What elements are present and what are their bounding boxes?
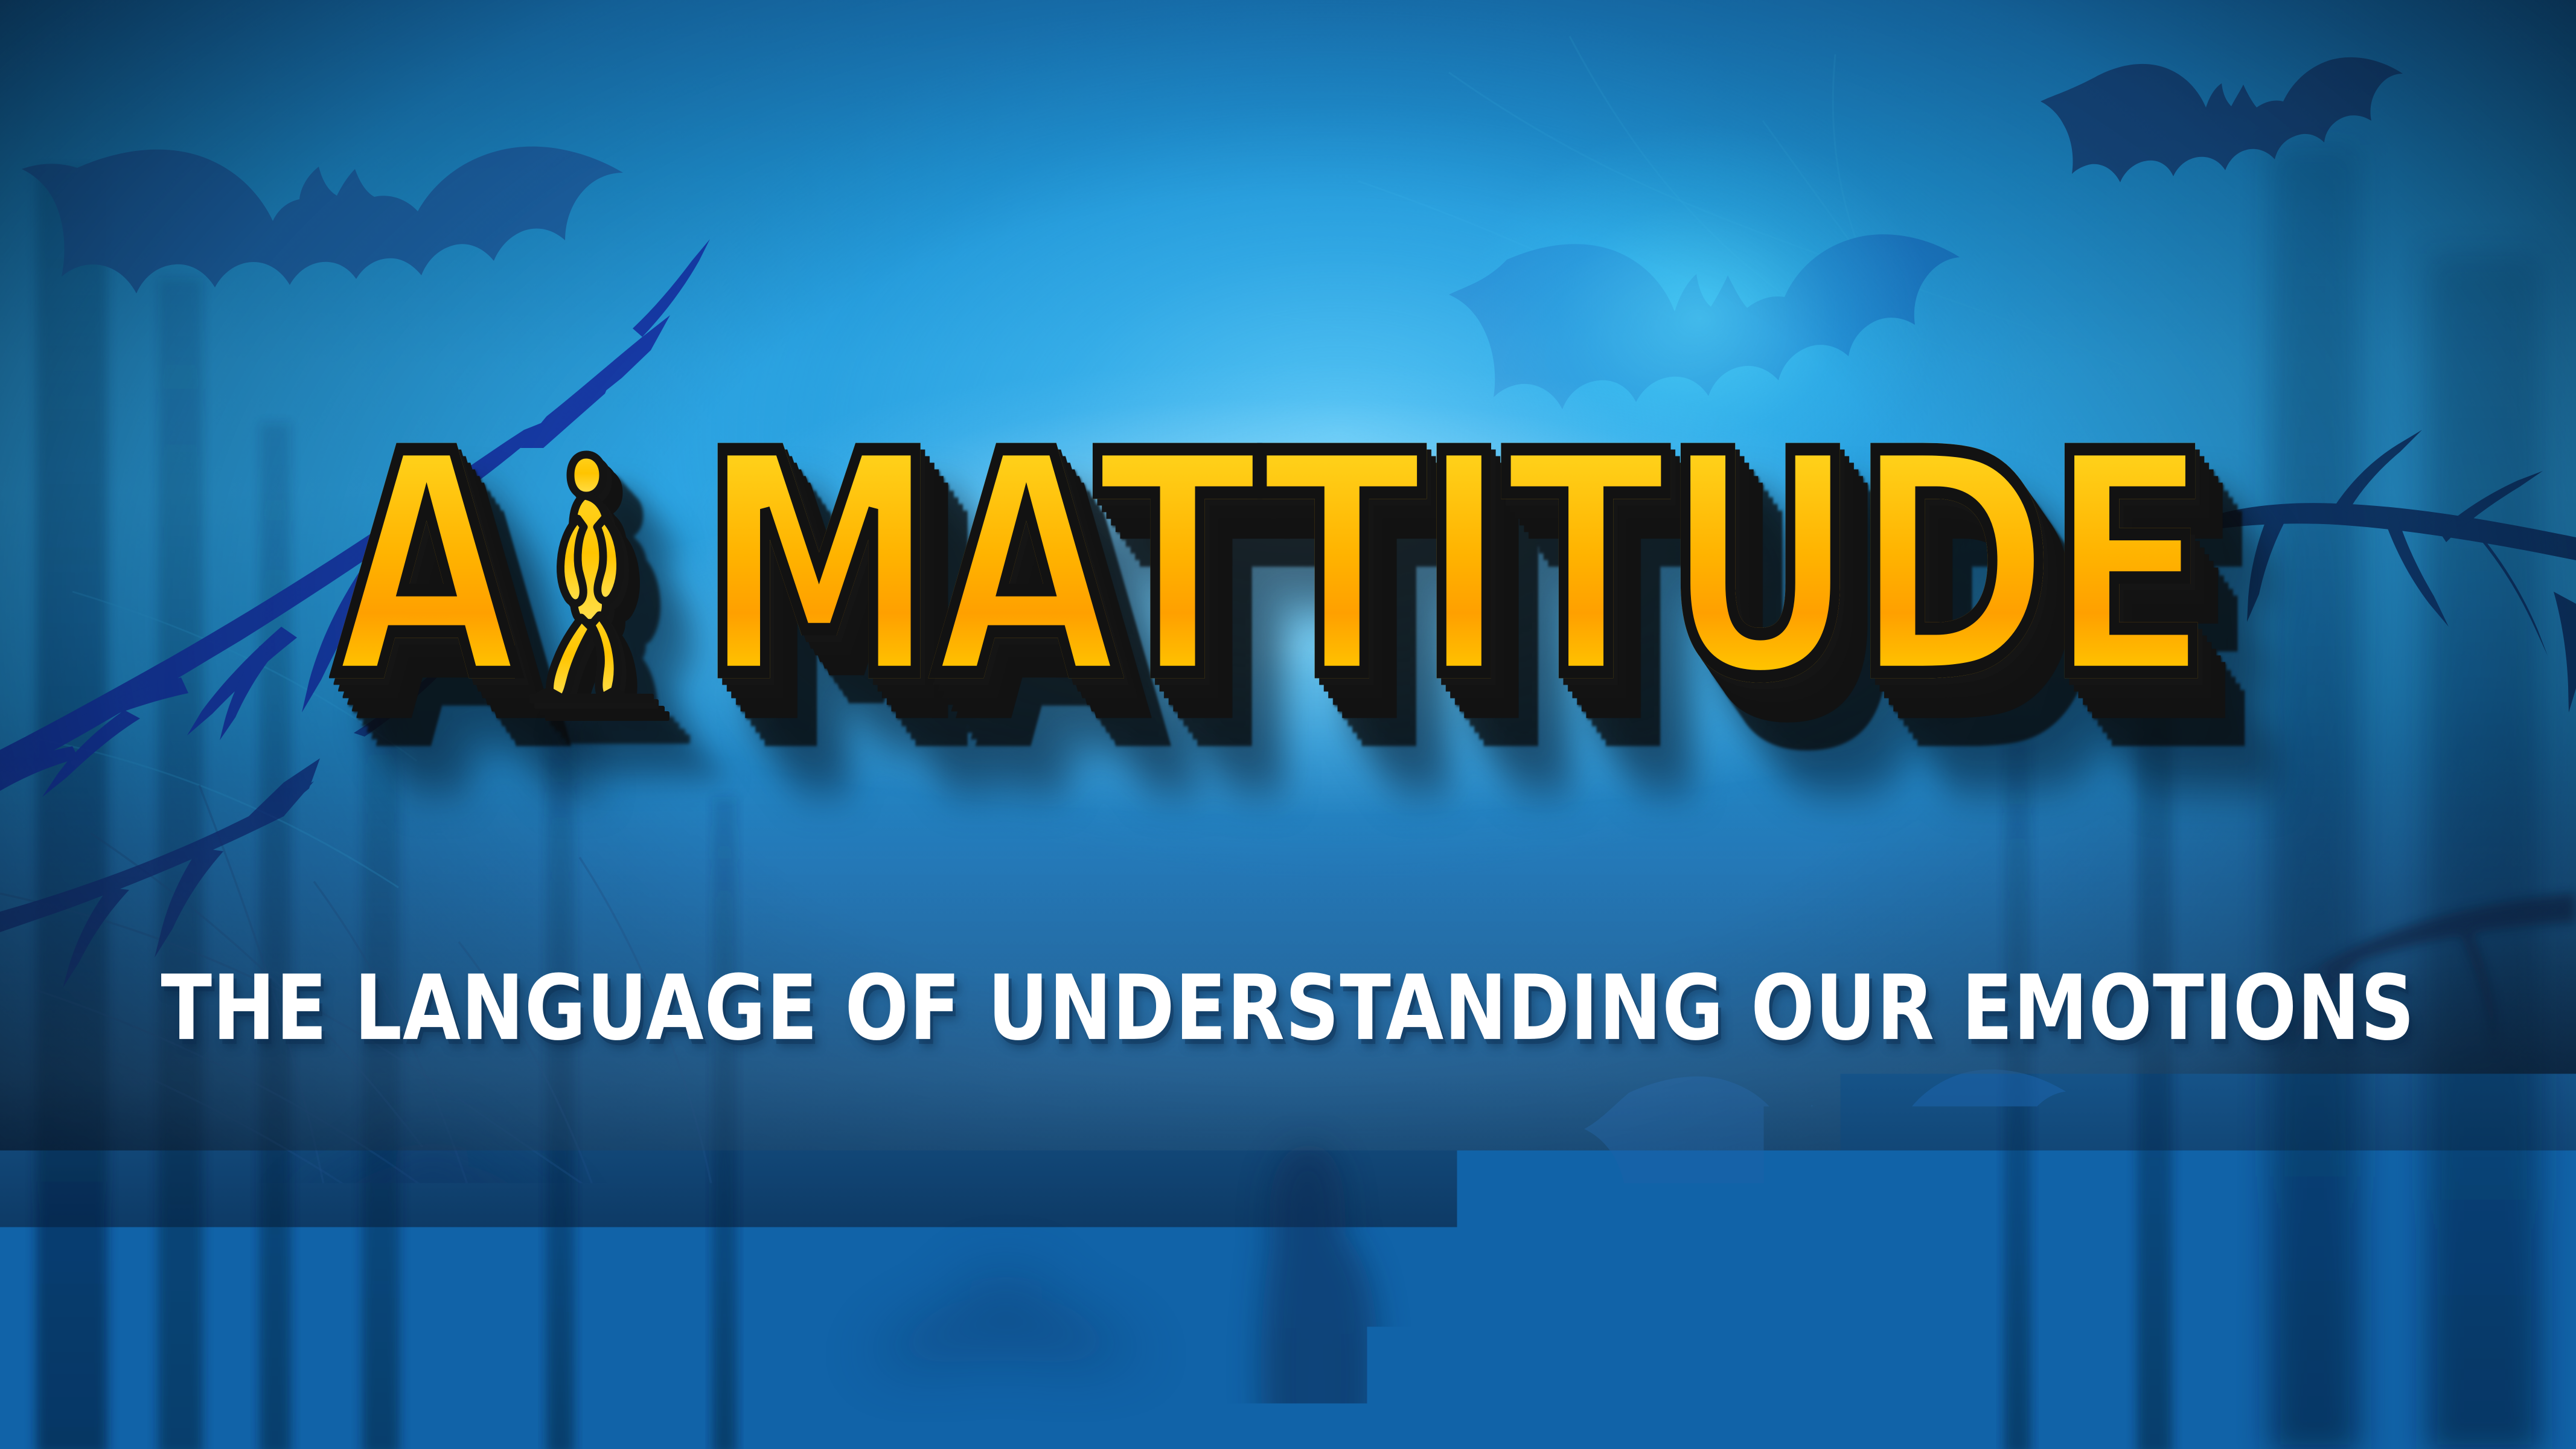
bat-bottom-right [1584,1069,2066,1234]
title-segment-a: A [334,421,515,712]
title-backlight [534,477,2043,815]
branches-left-deep [0,646,466,988]
subtitle-text: THE LANGUAGE OF UNDERSTANDING OUR EMOTIO… [161,956,2415,1060]
twig-texture-lower [0,785,773,1340]
title-halo-glow [0,0,2576,1449]
twig-texture [24,36,2234,888]
bat-top-center [1449,234,1960,409]
branches-right [2084,430,2576,712]
bat-top-right [2041,57,2403,182]
title-segment-mattitude: MATTITUDE [701,421,2207,712]
hooded-figure [1261,1144,1378,1449]
forest-texture-layer [0,0,2576,1449]
bat-bottom-left [284,1125,581,1243]
poster-subtitle: THE LANGUAGE OF UNDERSTANDING OUR EMOTIO… [0,964,2576,1052]
center-glow [0,0,2576,1449]
tree-trunks [36,145,2542,1449]
background-gradient [0,0,2576,1449]
poster-title: A [0,444,2576,764]
fog-band [0,0,2576,1449]
branches-left [0,239,710,797]
branches-right-lower [2282,894,2576,1064]
vignette [0,0,2576,1449]
poster-canvas: A [0,0,2576,1449]
bat-bottom-center [857,1258,1154,1375]
bat-top-left [22,147,623,293]
cyan-hotspot-glow [0,0,2576,1449]
dark-corners [0,0,2576,1449]
walking-person-icon [528,444,655,703]
